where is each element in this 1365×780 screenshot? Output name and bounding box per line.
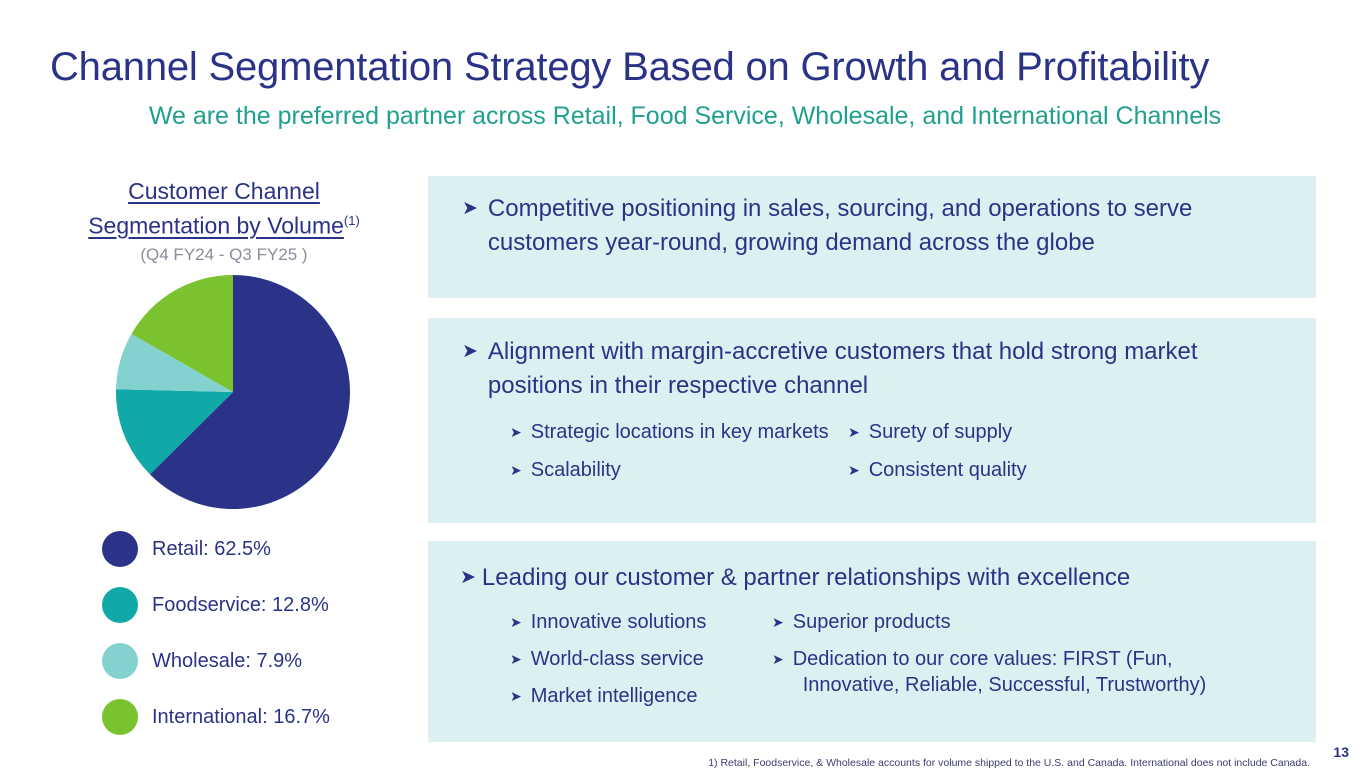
chart-title-footnote-marker: (1): [344, 213, 360, 228]
sub-bullet-column-right: ➤ Superior products ➤ Dedication to our …: [772, 609, 1316, 720]
list-item-text: Consistent quality: [869, 457, 1316, 483]
box-heading-text: Alignment with margin-accretive customer…: [488, 335, 1272, 403]
legend-color-swatch-foodservice: [102, 587, 138, 623]
legend-label-international: International: 16.7%: [152, 706, 330, 729]
bullet-arrow-icon: ➤: [462, 335, 478, 369]
list-item-text: Dedication to our core values: FIRST (Fu…: [793, 648, 1173, 670]
list-item: ➤ Scalability: [510, 457, 848, 483]
sub-bullet-columns: ➤ Innovative solutions ➤ World-class ser…: [428, 595, 1316, 720]
chart-title: Customer Channel Segmentation by Volume(…: [34, 176, 414, 241]
bullet-arrow-icon: ➤: [848, 457, 860, 483]
content-box-competitive-positioning: ➤ Competitive positioning in sales, sour…: [428, 176, 1316, 298]
bullet-arrow-icon: ➤: [772, 646, 784, 672]
page-title: Channel Segmentation Strategy Based on G…: [50, 43, 1340, 91]
list-item-text: Superior products: [793, 609, 1316, 635]
legend-label-retail: Retail: 62.5%: [152, 538, 271, 561]
bullet-arrow-icon: ➤: [510, 457, 522, 483]
list-item: ➤ Market intelligence: [510, 683, 772, 709]
box-heading: ➤ Alignment with margin-accretive custom…: [428, 318, 1316, 403]
chart-title-line-2: Segmentation by Volume: [88, 213, 344, 239]
list-item-text: Strategic locations in key markets: [531, 419, 848, 445]
list-item: ➤ Surety of supply: [848, 419, 1316, 445]
footnote: 1) Retail, Foodservice, & Wholesale acco…: [430, 756, 1310, 770]
sub-bullet-column-left: ➤ Innovative solutions ➤ World-class ser…: [510, 609, 772, 720]
bullet-arrow-icon: ➤: [510, 683, 522, 709]
list-item: ➤ Innovative solutions: [510, 609, 772, 635]
sub-bullet-column-right: ➤ Surety of supply ➤ Consistent quality: [848, 419, 1316, 495]
bullet-arrow-icon: ➤: [460, 561, 476, 595]
list-item-text-wrapped: Dedication to our core values: FIRST (Fu…: [793, 646, 1316, 698]
pie-chart-svg: [116, 275, 350, 509]
chart-panel: Customer Channel Segmentation by Volume(…: [34, 176, 414, 736]
bullet-arrow-icon: ➤: [510, 609, 522, 635]
bullet-arrow-icon: ➤: [510, 646, 522, 672]
list-item: ➤ World-class service: [510, 646, 772, 672]
bullet-arrow-icon: ➤: [510, 419, 522, 445]
box-heading-text: Leading our customer & partner relations…: [482, 561, 1286, 595]
bullet-arrow-icon: ➤: [772, 609, 784, 635]
list-item-text: World-class service: [531, 646, 772, 672]
list-item: ➤ Consistent quality: [848, 457, 1316, 483]
bullet-arrow-icon: ➤: [462, 192, 478, 226]
list-item-text: Market intelligence: [531, 683, 772, 709]
bullet-arrow-icon: ➤: [848, 419, 860, 445]
list-item-text: Innovative solutions: [531, 609, 772, 635]
box-heading: ➤ Leading our customer & partner relatio…: [428, 541, 1316, 595]
list-item: ➤ Dedication to our core values: FIRST (…: [772, 646, 1316, 698]
list-item-text: Surety of supply: [869, 419, 1316, 445]
box-heading: ➤ Competitive positioning in sales, sour…: [428, 176, 1316, 260]
list-item-text: Scalability: [531, 457, 848, 483]
sub-bullet-columns: ➤ Strategic locations in key markets ➤ S…: [428, 403, 1316, 495]
list-item: ➤ Strategic locations in key markets: [510, 419, 848, 445]
legend-color-swatch-international: [102, 699, 138, 735]
content-box-margin-alignment: ➤ Alignment with margin-accretive custom…: [428, 318, 1316, 523]
pie-chart: [116, 275, 350, 509]
legend-item: Foodservice: 12.8%: [102, 577, 414, 633]
page-number: 13: [1333, 744, 1349, 760]
legend-item: Retail: 62.5%: [102, 521, 414, 577]
content-box-customer-leadership: ➤ Leading our customer & partner relatio…: [428, 541, 1316, 742]
chart-period-label: (Q4 FY24 - Q3 FY25 ): [34, 244, 414, 266]
legend-item: Wholesale: 7.9%: [102, 633, 414, 689]
legend-item: International: 16.7%: [102, 689, 414, 745]
legend-label-foodservice: Foodservice: 12.8%: [152, 594, 329, 617]
legend-color-swatch-retail: [102, 531, 138, 567]
box-heading-text: Competitive positioning in sales, sourci…: [488, 192, 1276, 260]
chart-legend: Retail: 62.5% Foodservice: 12.8% Wholesa…: [102, 521, 414, 745]
legend-label-wholesale: Wholesale: 7.9%: [152, 650, 302, 673]
chart-title-line-1: Customer Channel: [128, 178, 320, 204]
legend-color-swatch-wholesale: [102, 643, 138, 679]
list-item: ➤ Superior products: [772, 609, 1316, 635]
sub-bullet-column-left: ➤ Strategic locations in key markets ➤ S…: [510, 419, 848, 495]
list-item-text-continuation: Innovative, Reliable, Successful, Trustw…: [793, 672, 1316, 698]
page-subtitle: We are the preferred partner across Reta…: [50, 101, 1320, 131]
